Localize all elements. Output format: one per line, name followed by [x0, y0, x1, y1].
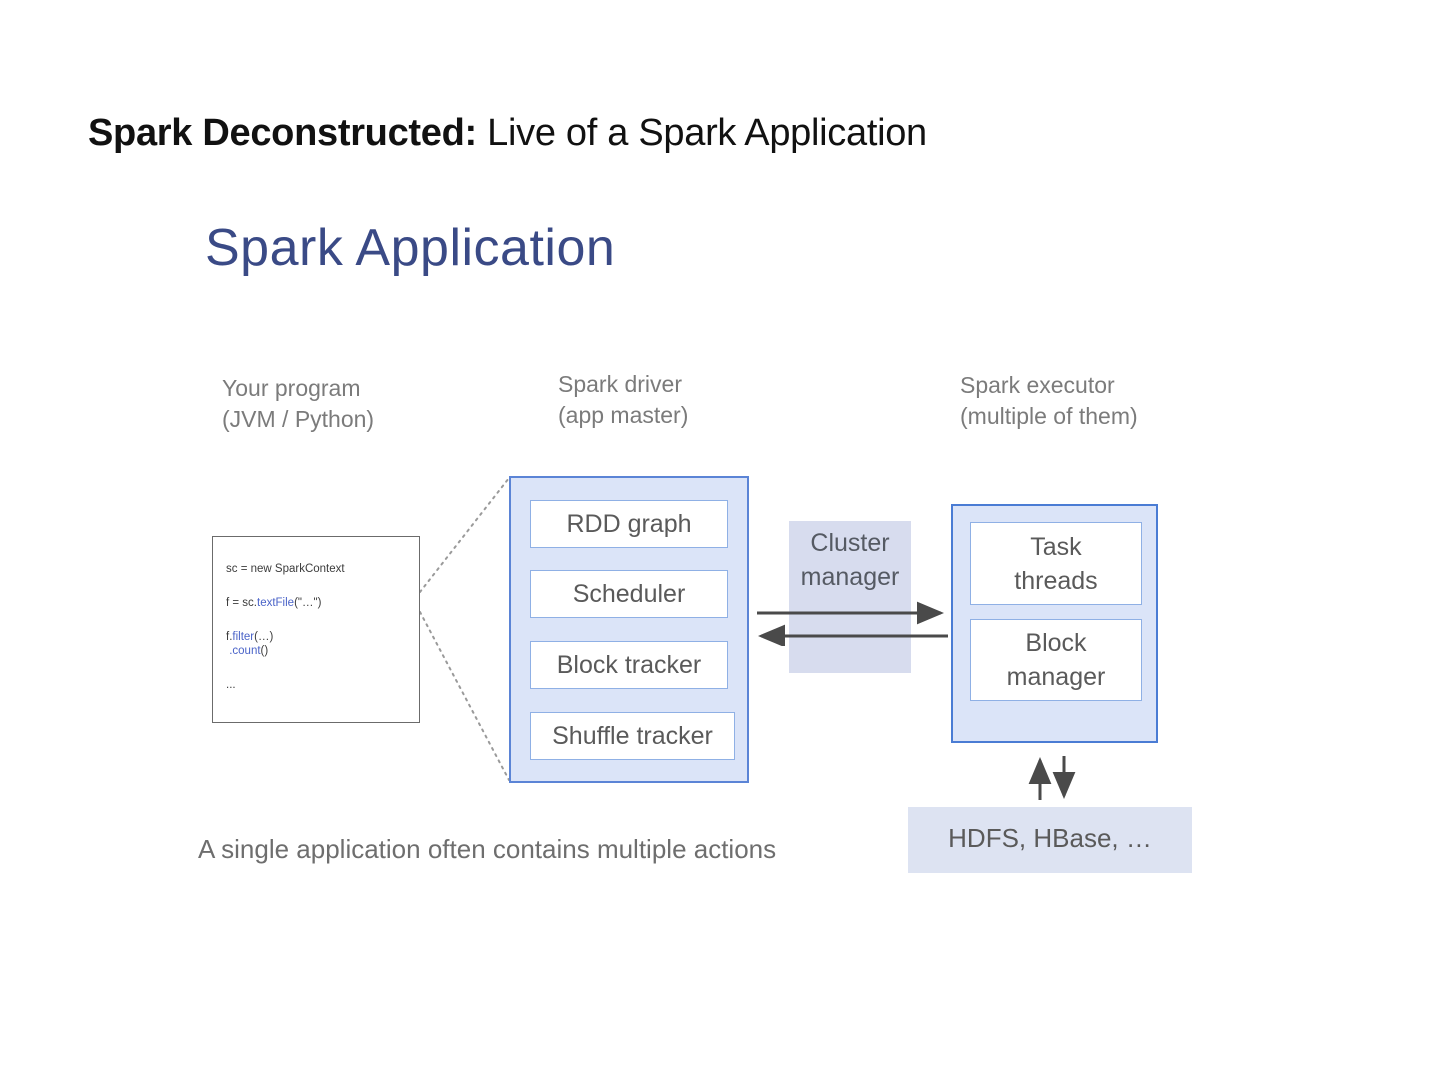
- driver-item-block-tracker: Block tracker: [530, 641, 728, 689]
- code-box: sc = new SparkContext f = sc.textFile("……: [212, 536, 420, 723]
- spark-application-diagram: Spark Application Your program (JVM / Py…: [0, 0, 1440, 1080]
- spark-driver-panel: RDD graph Scheduler Block tracker Shuffl…: [509, 476, 749, 783]
- code-listing: sc = new SparkContext f = sc.textFile("……: [226, 563, 345, 692]
- code-text-textfile-args: ("…"): [294, 597, 321, 609]
- executor-storage-arrows: [1020, 752, 1090, 807]
- cluster-manager-label: Cluster manager: [789, 526, 911, 594]
- storage-label: HDFS, HBase, …: [908, 823, 1192, 854]
- figure-footnote: A single application often contains mult…: [198, 834, 776, 865]
- code-text-f-eq: f = sc.: [226, 597, 257, 609]
- spark-executor-panel: Task threads Block manager: [951, 504, 1158, 743]
- code-text-count-args: (): [261, 645, 269, 657]
- executor-item-task-threads: Task threads: [970, 522, 1142, 605]
- code-line-3: f.filter(…): [226, 631, 345, 644]
- driver-item-scheduler: Scheduler: [530, 570, 728, 618]
- code-text-filter-args: (…): [254, 631, 273, 643]
- connector-line-lower: [420, 612, 509, 780]
- code-method-textfile: textFile: [257, 597, 294, 609]
- code-method-filter: filter: [232, 631, 254, 643]
- code-text-sparkcontext: sc = new SparkContext: [226, 563, 345, 575]
- column-caption-spark-executor: Spark executor (multiple of them): [960, 370, 1138, 432]
- connector-line-upper: [420, 478, 509, 592]
- code-line-2: f = sc.textFile("…"): [226, 597, 345, 610]
- driver-item-shuffle-tracker: Shuffle tracker: [530, 712, 735, 760]
- driver-executor-arrows: [745, 598, 960, 646]
- storage-box: HDFS, HBase, …: [908, 807, 1192, 873]
- cluster-manager-box: Cluster manager: [789, 521, 911, 673]
- column-caption-spark-driver: Spark driver (app master): [558, 369, 688, 431]
- executor-item-block-manager: Block manager: [970, 619, 1142, 701]
- code-line-1: sc = new SparkContext: [226, 563, 345, 576]
- code-method-count: .count: [229, 645, 260, 657]
- column-caption-your-program: Your program (JVM / Python): [222, 373, 374, 435]
- code-line-4: .count(): [226, 645, 345, 658]
- figure-heading: Spark Application: [205, 218, 615, 278]
- code-line-5: ...: [226, 679, 345, 692]
- driver-item-rdd-graph: RDD graph: [530, 500, 728, 548]
